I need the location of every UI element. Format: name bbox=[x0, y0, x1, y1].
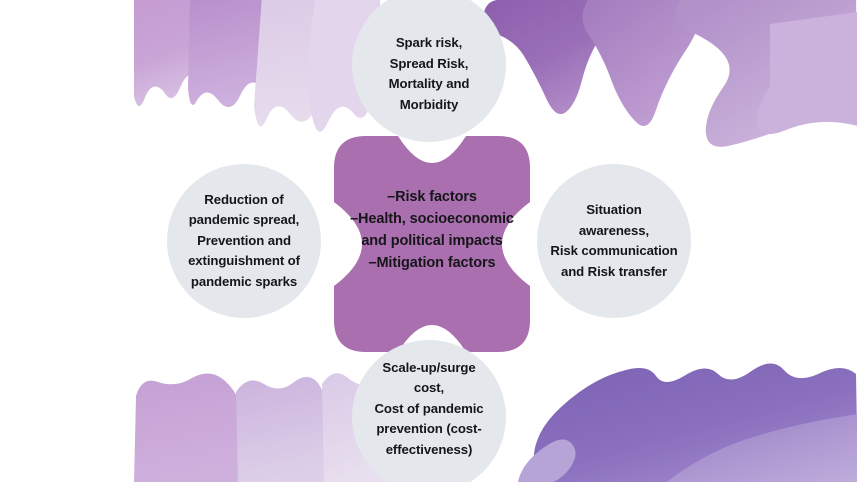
node-bottom-line-3: Cost of pandemic bbox=[374, 399, 483, 420]
watercolor-brush-bottom-right-icon bbox=[512, 336, 857, 482]
node-top[interactable]: Spark risk, Spread Risk, Mortality and M… bbox=[352, 0, 506, 142]
hub-line-1: –Risk factors bbox=[322, 186, 542, 208]
node-right[interactable]: Situation awareness, Risk communication … bbox=[537, 164, 691, 318]
node-left-line-3: Prevention and bbox=[188, 231, 300, 252]
node-top-label: Spark risk, Spread Risk, Mortality and M… bbox=[383, 33, 476, 115]
node-top-line-3: Mortality and bbox=[389, 74, 470, 95]
node-left[interactable]: Reduction of pandemic spread, Prevention… bbox=[167, 164, 321, 318]
hub-line-3: and political impacts bbox=[322, 230, 542, 252]
node-bottom[interactable]: Scale-up/surge cost, Cost of pandemic pr… bbox=[352, 340, 506, 482]
node-right-line-3: Risk communication bbox=[550, 241, 677, 262]
node-bottom-line-5: effectiveness) bbox=[374, 440, 483, 461]
node-left-label: Reduction of pandemic spread, Prevention… bbox=[182, 190, 306, 293]
node-bottom-label: Scale-up/surge cost, Cost of pandemic pr… bbox=[368, 358, 489, 461]
node-right-line-2: awareness, bbox=[550, 221, 677, 242]
node-right-line-4: and Risk transfer bbox=[550, 262, 677, 283]
node-top-line-4: Morbidity bbox=[389, 95, 470, 116]
node-bottom-line-1: Scale-up/surge bbox=[374, 358, 483, 379]
hub-label: –Risk factors –Health, socioeconomic and… bbox=[322, 186, 542, 274]
node-bottom-line-4: prevention (cost- bbox=[374, 419, 483, 440]
diagram-canvas: Spark risk, Spread Risk, Mortality and M… bbox=[0, 0, 857, 482]
node-right-line-1: Situation bbox=[550, 200, 677, 221]
node-left-line-4: extinguishment of bbox=[188, 251, 300, 272]
node-left-line-2: pandemic spread, bbox=[188, 210, 300, 231]
node-bottom-line-2: cost, bbox=[374, 378, 483, 399]
node-top-line-2: Spread Risk, bbox=[389, 54, 470, 75]
hub-line-4: –Mitigation factors bbox=[322, 252, 542, 274]
node-left-line-5: pandemic sparks bbox=[188, 272, 300, 293]
node-top-line-1: Spark risk, bbox=[389, 33, 470, 54]
hub-line-2: –Health, socioeconomic bbox=[322, 208, 542, 230]
node-right-label: Situation awareness, Risk communication … bbox=[544, 200, 683, 282]
node-left-line-1: Reduction of bbox=[188, 190, 300, 211]
